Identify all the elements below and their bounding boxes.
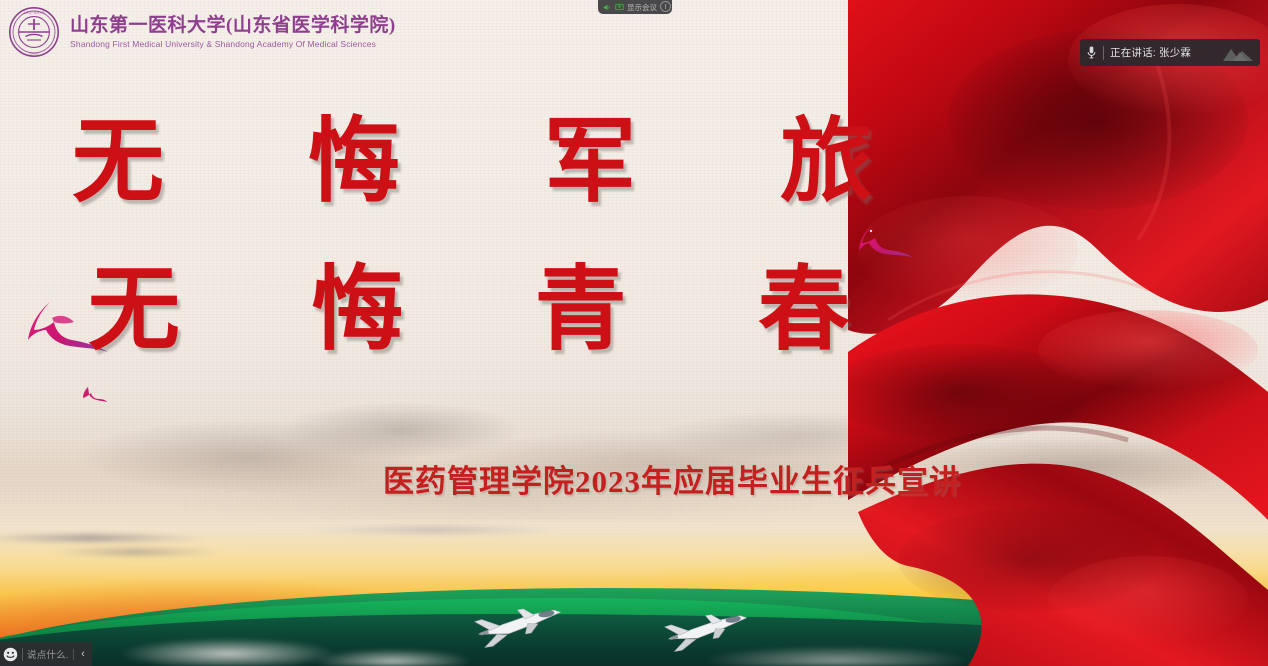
title-char: 悔 bbox=[311, 264, 403, 356]
title-char: 春 bbox=[758, 264, 850, 356]
svg-text:山东第一医科大学: 山东第一医科大学 bbox=[24, 10, 45, 14]
screen-share-stage: 山东第一医科大学 SDFMU 山东第一医科大学(山东省医学科学院) Shando… bbox=[0, 0, 1268, 666]
sunset-landscape bbox=[0, 486, 1268, 666]
chevron-left-icon[interactable]: ‹ bbox=[73, 649, 89, 660]
speaker-bar-divider bbox=[1103, 46, 1104, 60]
meeting-toolbar-collapsed[interactable]: 显示会议 bbox=[598, 0, 672, 14]
cloud-streak bbox=[304, 526, 564, 534]
slide-title-line-2: 无 悔 青 春 bbox=[72, 264, 872, 356]
clock-icon[interactable] bbox=[660, 1, 671, 12]
slide-subtitle: 医药管理学院2023年应届毕业生征兵宣讲 bbox=[383, 456, 961, 501]
title-char: 悔 bbox=[308, 116, 400, 208]
svg-text:SDFMU: SDFMU bbox=[29, 52, 38, 56]
title-char: 无 bbox=[72, 116, 164, 208]
title-char: 青 bbox=[535, 264, 627, 356]
cloud-streak bbox=[51, 548, 221, 556]
video-thumbnail-icon[interactable] bbox=[1222, 44, 1254, 62]
title-char: 军 bbox=[544, 116, 636, 208]
volume-icon[interactable] bbox=[603, 3, 612, 12]
university-name-en: Shandong First Medical University & Shan… bbox=[70, 39, 396, 49]
chat-input-bar[interactable]: 说点什么... ‹ bbox=[0, 642, 92, 666]
active-speaker-bar[interactable]: 正在讲话: 张少霖 bbox=[1080, 39, 1260, 66]
slide-title-line-1: 无 悔 军 旅 bbox=[72, 116, 872, 208]
university-name-cn: 山东第一医科大学(山东省医学科学院) bbox=[70, 15, 396, 37]
chat-input[interactable]: 说点什么... bbox=[27, 647, 69, 661]
chat-bar-divider bbox=[22, 648, 23, 661]
mist-layer bbox=[0, 610, 1268, 666]
microphone-icon[interactable] bbox=[1086, 45, 1097, 60]
university-seal-icon: 山东第一医科大学 SDFMU bbox=[8, 6, 60, 58]
slide-title: 无 悔 军 旅 无 悔 青 春 bbox=[72, 116, 872, 356]
title-char: 无 bbox=[88, 264, 180, 356]
presentation-slide: 山东第一医科大学 SDFMU 山东第一医科大学(山东省医学科学院) Shando… bbox=[0, 0, 1268, 666]
university-logo-block: 山东第一医科大学 SDFMU 山东第一医科大学(山东省医学科学院) Shando… bbox=[8, 6, 396, 58]
active-speaker-name: 正在讲话: 张少霖 bbox=[1110, 45, 1216, 60]
university-name-block: 山东第一医科大学(山东省医学科学院) Shandong First Medica… bbox=[70, 15, 396, 49]
emoji-smiley-icon[interactable] bbox=[3, 647, 18, 662]
meeting-toolbar-label[interactable]: 显示会议 bbox=[627, 3, 657, 12]
title-char: 旅 bbox=[780, 116, 872, 208]
share-screen-icon[interactable] bbox=[615, 3, 624, 12]
